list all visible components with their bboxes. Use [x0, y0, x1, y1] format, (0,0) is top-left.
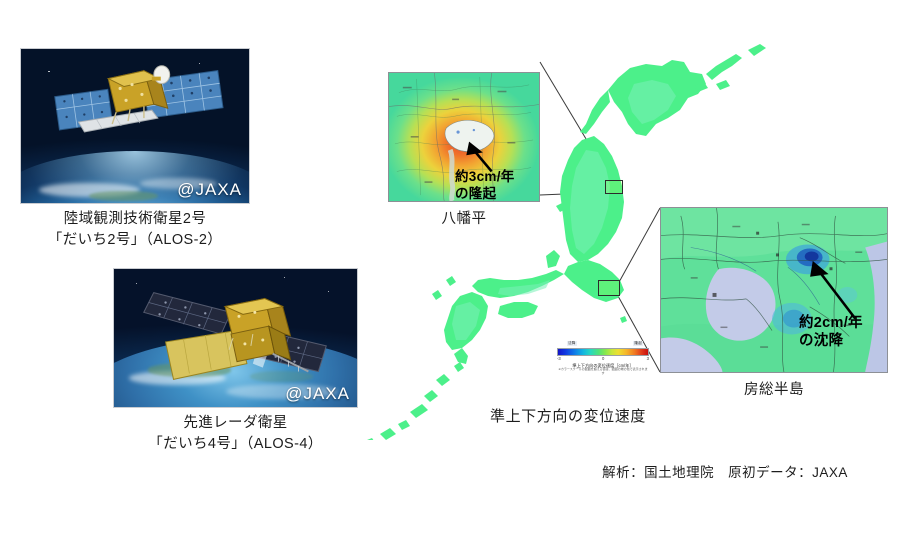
- satellite-caption-alos4: 先進レーダ衛星 「だいち4号」（ALOS-4）: [113, 413, 358, 454]
- satellite-caption-alos4-line2: 「だいち4号」（ALOS-4）: [113, 434, 358, 455]
- satellite-caption-alos4-line1: 先進レーダ衛星: [113, 413, 358, 434]
- japan-map: 約3cm/年 の隆起 八幡平: [350, 40, 900, 440]
- inset-map-hachimantai[interactable]: 約3cm/年 の隆起: [388, 72, 540, 202]
- locator-box-hachimantai: [605, 180, 623, 194]
- satellite-caption-alos2-line1: 陸域観測技術衛星2号: [20, 209, 250, 230]
- annotation-boso-line2: の沈降: [799, 332, 863, 350]
- annotation-boso: 約2cm/年 の沈降: [799, 314, 863, 350]
- annotation-boso-line1: 約2cm/年: [799, 314, 863, 332]
- jaxa-watermark-alos2: @JAXA: [177, 180, 242, 200]
- legend-colorbar: [557, 348, 649, 356]
- legend-tick-max: 3: [647, 356, 649, 361]
- color-legend: 沈降 隆起 -3 0 3 準上下方向の変位速度［cm/年］ ※カラースケールの範…: [557, 341, 649, 375]
- legend-tick-min: -3: [557, 356, 561, 361]
- credit-line: 解析：国土地理院 原初データ：JAXA: [560, 461, 890, 481]
- legend-label-low: 沈降: [567, 341, 577, 346]
- inset-label-hachimantai: 八幡平: [388, 207, 540, 228]
- annotation-hachimantai-line1: 約3cm/年: [455, 169, 515, 186]
- satellite-photo-alos2: @JAXA: [20, 48, 250, 204]
- annotation-hachimantai: 約3cm/年 の隆起: [455, 169, 515, 202]
- satellite-caption-alos2: 陸域観測技術衛星2号 「だいち2号」（ALOS-2）: [20, 209, 250, 250]
- legend-tick-mid: 0: [602, 356, 604, 361]
- annotation-hachimantai-line2: の隆起: [455, 186, 515, 202]
- satellite-photo-alos4: @JAXA: [113, 268, 358, 408]
- inset-map-boso[interactable]: 約2cm/年 の沈降: [660, 207, 888, 373]
- inset-label-boso: 房総半島: [660, 378, 888, 399]
- satellite-card-alos4: @JAXA 先進レーダ衛星 「だいち4号」（ALOS-4）: [113, 268, 358, 454]
- legend-note: ※カラースケールの範囲を超える値は、範囲の端の色で表示されます: [557, 368, 649, 375]
- map-caption: 準上下方向の変位速度: [443, 405, 693, 426]
- satellite-caption-alos2-line2: 「だいち2号」（ALOS-2）: [20, 230, 250, 251]
- poster-canvas: @JAXA 陸域観測技術衛星2号 「だいち2号」（ALOS-2）: [0, 0, 900, 550]
- locator-box-boso: [598, 280, 620, 296]
- jaxa-watermark-alos4: @JAXA: [285, 384, 350, 404]
- satellite-card-alos2: @JAXA 陸域観測技術衛星2号 「だいち2号」（ALOS-2）: [20, 48, 250, 250]
- legend-label-high: 隆起: [633, 341, 643, 346]
